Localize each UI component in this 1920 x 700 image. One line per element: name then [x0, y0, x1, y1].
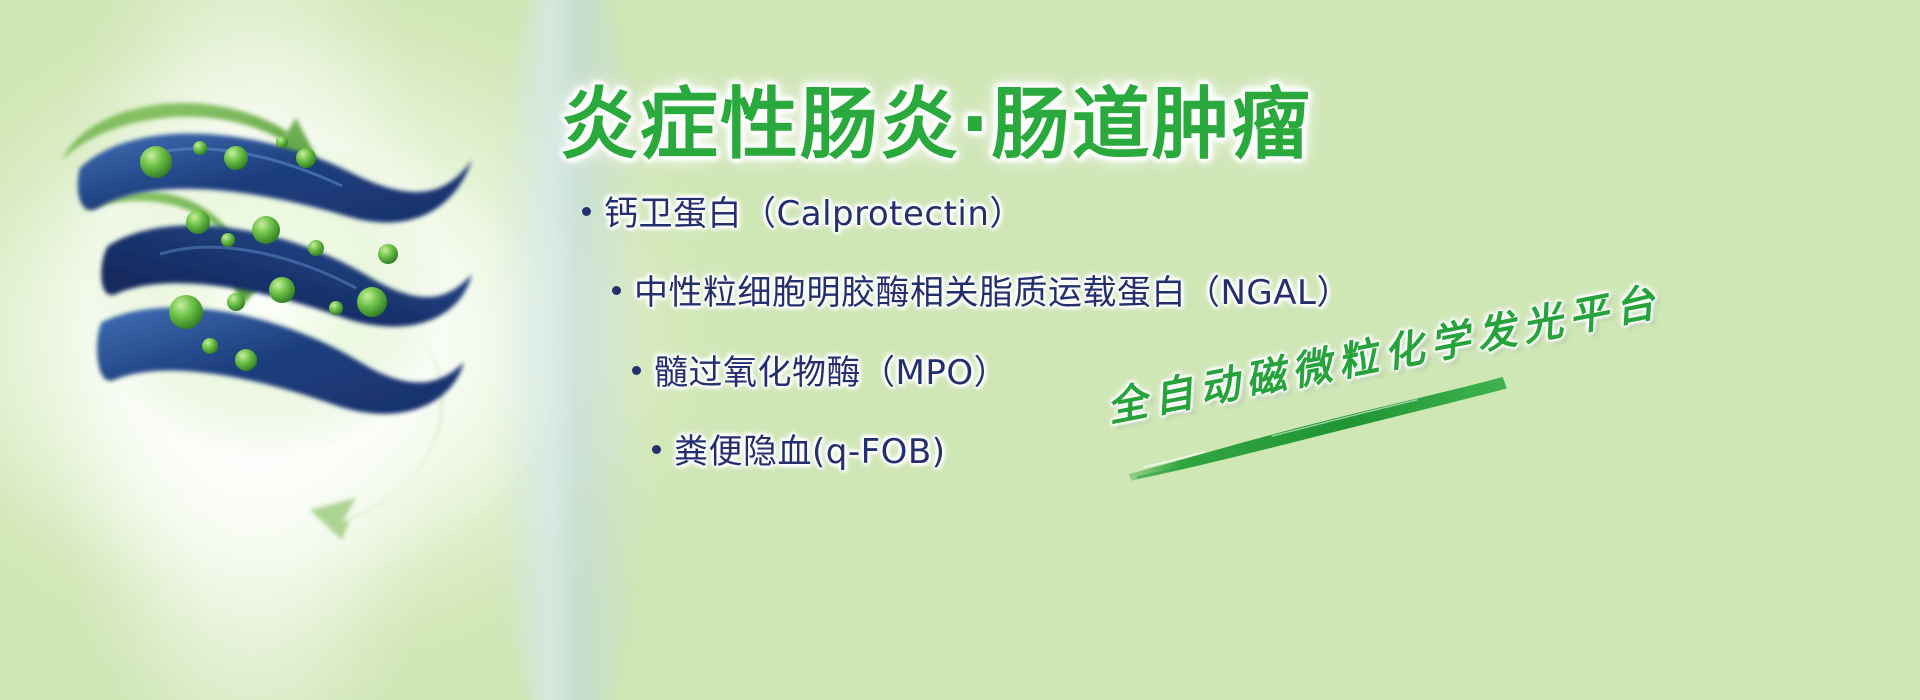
list-item-label: 粪便隐血(q-FOB) [674, 432, 946, 472]
banner-root: 炎症性肠炎·肠道肿瘤 钙卫蛋白（Calprotectin） 中性粒细胞明胶酶相关… [0, 0, 1920, 700]
list-item-label: 钙卫蛋白（Calprotectin） [604, 194, 1024, 234]
bullet-dot-icon [612, 286, 621, 295]
list-item-label: 中性粒细胞明胶酶相关脂质运载蛋白（NGAL） [634, 273, 1351, 313]
bullet-dot-icon [632, 366, 641, 375]
list-item: 钙卫蛋白（Calprotectin） [582, 194, 1900, 235]
intestine-dna-ribbon-illustration [20, 40, 540, 560]
list-item: 中性粒细胞明胶酶相关脂质运载蛋白（NGAL） [612, 273, 1900, 314]
bullet-dot-icon [582, 207, 591, 216]
page-title: 炎症性肠炎·肠道肿瘤 [560, 62, 1312, 174]
bullet-dot-icon [652, 445, 661, 454]
list-item-label: 髓过氧化物酶（MPO） [654, 353, 1008, 393]
